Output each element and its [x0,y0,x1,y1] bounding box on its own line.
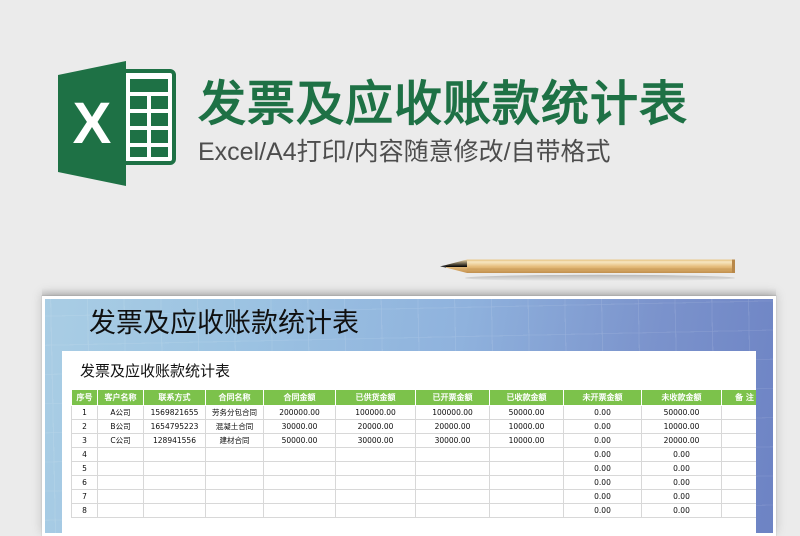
page-subtitle: Excel/A4打印/内容随意修改/自带格式 [198,135,688,169]
cell-uninvoiced[interactable]: 0.00 [564,448,642,462]
page-title: 发票及应收账款统计表 [198,77,688,133]
column-header-index[interactable]: 序号 [72,390,98,406]
cell-remark[interactable] [722,504,757,518]
cell-customer[interactable] [98,490,144,504]
table-header-row: 序号 客户名称 联系方式 合同名称 合同金额 已供货金额 已开票金额 已收款金额… [72,390,757,406]
table-row[interactable]: 6 0.00 0.00 [72,476,757,490]
cell-contract-amount[interactable]: 200000.00 [264,406,336,420]
spreadsheet-sheet[interactable]: 发票及应收账款统计表 序号 客户名称 联系方式 合同名称 合同金额 已供货金额 … [62,351,756,533]
cell-index[interactable]: 4 [72,448,98,462]
cell-contract-name[interactable]: 劳务分包合同 [206,406,264,420]
cell-unreceived[interactable]: 50000.00 [642,406,722,420]
cell-invoiced[interactable]: 30000.00 [416,434,490,448]
cell-invoiced[interactable] [416,504,490,518]
column-header-remark[interactable]: 备 注 [722,390,757,406]
cell-uninvoiced[interactable]: 0.00 [564,420,642,434]
cell-invoiced[interactable] [416,448,490,462]
cell-remark[interactable] [722,420,757,434]
excel-logo-icon: X [56,61,176,186]
document-card: 发票及应收账款统计表 发票及应收账款统计表 序号 客户名称 联系方式 合同名称 … [42,296,776,536]
column-header-contract-amount[interactable]: 合同金额 [264,390,336,406]
cell-unreceived[interactable]: 0.00 [642,504,722,518]
cell-index[interactable]: 6 [72,476,98,490]
table-row[interactable]: 4 0.00 0.00 [72,448,757,462]
column-header-unreceived[interactable]: 未收款金额 [642,390,722,406]
cell-contract-name[interactable] [206,462,264,476]
cell-remark[interactable] [722,448,757,462]
cell-received[interactable] [490,490,564,504]
cell-contract-amount[interactable] [264,476,336,490]
cell-unreceived[interactable]: 20000.00 [642,434,722,448]
cell-received[interactable]: 10000.00 [490,420,564,434]
cell-received[interactable]: 10000.00 [490,434,564,448]
cell-customer[interactable] [98,504,144,518]
cell-received[interactable] [490,462,564,476]
document-banner: 发票及应收账款统计表 发票及应收账款统计表 序号 客户名称 联系方式 合同名称 … [45,299,773,533]
cell-contract-name[interactable]: 建材合同 [206,434,264,448]
cell-contract-name[interactable] [206,448,264,462]
hero-banner: X 发票及应收账款统计表 Excel/A4打印/内容随意修改/自带格式 [0,48,800,198]
column-header-invoiced[interactable]: 已开票金额 [416,390,490,406]
table-body: 1 A公司 1569821655 劳务分包合同 200000.00 100000… [72,406,757,518]
cell-supplied[interactable]: 20000.00 [336,420,416,434]
cell-supplied[interactable]: 100000.00 [336,406,416,420]
cell-contact[interactable]: 1569821655 [144,406,206,420]
cell-supplied[interactable] [336,462,416,476]
table-row[interactable]: 2 B公司 1654795223 混凝土合同 30000.00 20000.00… [72,420,757,434]
cell-contract-amount[interactable]: 30000.00 [264,420,336,434]
cell-remark[interactable] [722,406,757,420]
cell-invoiced[interactable]: 20000.00 [416,420,490,434]
cell-index[interactable]: 8 [72,504,98,518]
cell-customer[interactable]: C公司 [98,434,144,448]
svg-text:X: X [73,91,112,156]
cell-received[interactable] [490,504,564,518]
cell-index[interactable]: 1 [72,406,98,420]
cell-index[interactable]: 7 [72,490,98,504]
cell-contract-name[interactable] [206,504,264,518]
cell-contact[interactable] [144,476,206,490]
column-header-received[interactable]: 已收款金额 [490,390,564,406]
cell-supplied[interactable] [336,448,416,462]
cell-uninvoiced[interactable]: 0.00 [564,504,642,518]
pencil-icon [440,255,740,281]
cell-contact[interactable] [144,462,206,476]
document-banner-title: 发票及应收账款统计表 [89,307,359,341]
cell-unreceived[interactable]: 10000.00 [642,420,722,434]
cell-contact[interactable] [144,448,206,462]
cell-index[interactable]: 3 [72,434,98,448]
table-row[interactable]: 8 0.00 0.00 [72,504,757,518]
cell-received[interactable] [490,448,564,462]
table-row[interactable]: 1 A公司 1569821655 劳务分包合同 200000.00 100000… [72,406,757,420]
cell-invoiced[interactable] [416,490,490,504]
cell-supplied[interactable] [336,476,416,490]
cell-contract-name[interactable] [206,490,264,504]
cell-remark[interactable] [722,476,757,490]
cell-index[interactable]: 5 [72,462,98,476]
cell-customer[interactable] [98,448,144,462]
cell-customer[interactable] [98,476,144,490]
cell-received[interactable]: 50000.00 [490,406,564,420]
cell-contact[interactable] [144,504,206,518]
cell-customer[interactable]: B公司 [98,420,144,434]
cell-invoiced[interactable] [416,476,490,490]
cell-remark[interactable] [722,490,757,504]
sheet-title: 发票及应收账款统计表 [80,360,756,381]
column-header-contact[interactable]: 联系方式 [144,390,206,406]
table-row[interactable]: 5 0.00 0.00 [72,462,757,476]
column-header-contract-name[interactable]: 合同名称 [206,390,264,406]
cell-contract-amount[interactable] [264,504,336,518]
cell-contract-name[interactable] [206,476,264,490]
cell-uninvoiced[interactable]: 0.00 [564,434,642,448]
cell-index[interactable]: 2 [72,420,98,434]
cell-contract-name[interactable]: 混凝土合同 [206,420,264,434]
cell-contact[interactable] [144,490,206,504]
cell-uninvoiced[interactable]: 0.00 [564,406,642,420]
table-row[interactable]: 7 0.00 0.00 [72,490,757,504]
cell-unreceived[interactable]: 0.00 [642,476,722,490]
cell-invoiced[interactable] [416,462,490,476]
cell-contact[interactable]: 1654795223 [144,420,206,434]
cell-remark[interactable] [722,462,757,476]
column-header-customer[interactable]: 客户名称 [98,390,144,406]
cell-contact[interactable]: 128941556 [144,434,206,448]
cell-customer[interactable] [98,462,144,476]
cell-contract-amount[interactable] [264,448,336,462]
cell-invoiced[interactable]: 100000.00 [416,406,490,420]
column-header-supplied[interactable]: 已供货金额 [336,390,416,406]
cell-uninvoiced[interactable]: 0.00 [564,490,642,504]
cell-contract-amount[interactable]: 50000.00 [264,434,336,448]
cell-contract-amount[interactable] [264,490,336,504]
cell-uninvoiced[interactable]: 0.00 [564,462,642,476]
table-row[interactable]: 3 C公司 128941556 建材合同 50000.00 30000.00 3… [72,434,757,448]
cell-supplied[interactable] [336,490,416,504]
cell-received[interactable] [490,476,564,490]
cell-unreceived[interactable]: 0.00 [642,490,722,504]
cell-supplied[interactable] [336,504,416,518]
cell-customer[interactable]: A公司 [98,406,144,420]
cell-unreceived[interactable]: 0.00 [642,448,722,462]
column-header-uninvoiced[interactable]: 未开票金额 [564,390,642,406]
invoice-receivables-table[interactable]: 序号 客户名称 联系方式 合同名称 合同金额 已供货金额 已开票金额 已收款金额… [71,389,756,518]
cell-unreceived[interactable]: 0.00 [642,462,722,476]
cell-remark[interactable] [722,434,757,448]
cell-supplied[interactable]: 30000.00 [336,434,416,448]
cell-contract-amount[interactable] [264,462,336,476]
cell-uninvoiced[interactable]: 0.00 [564,476,642,490]
